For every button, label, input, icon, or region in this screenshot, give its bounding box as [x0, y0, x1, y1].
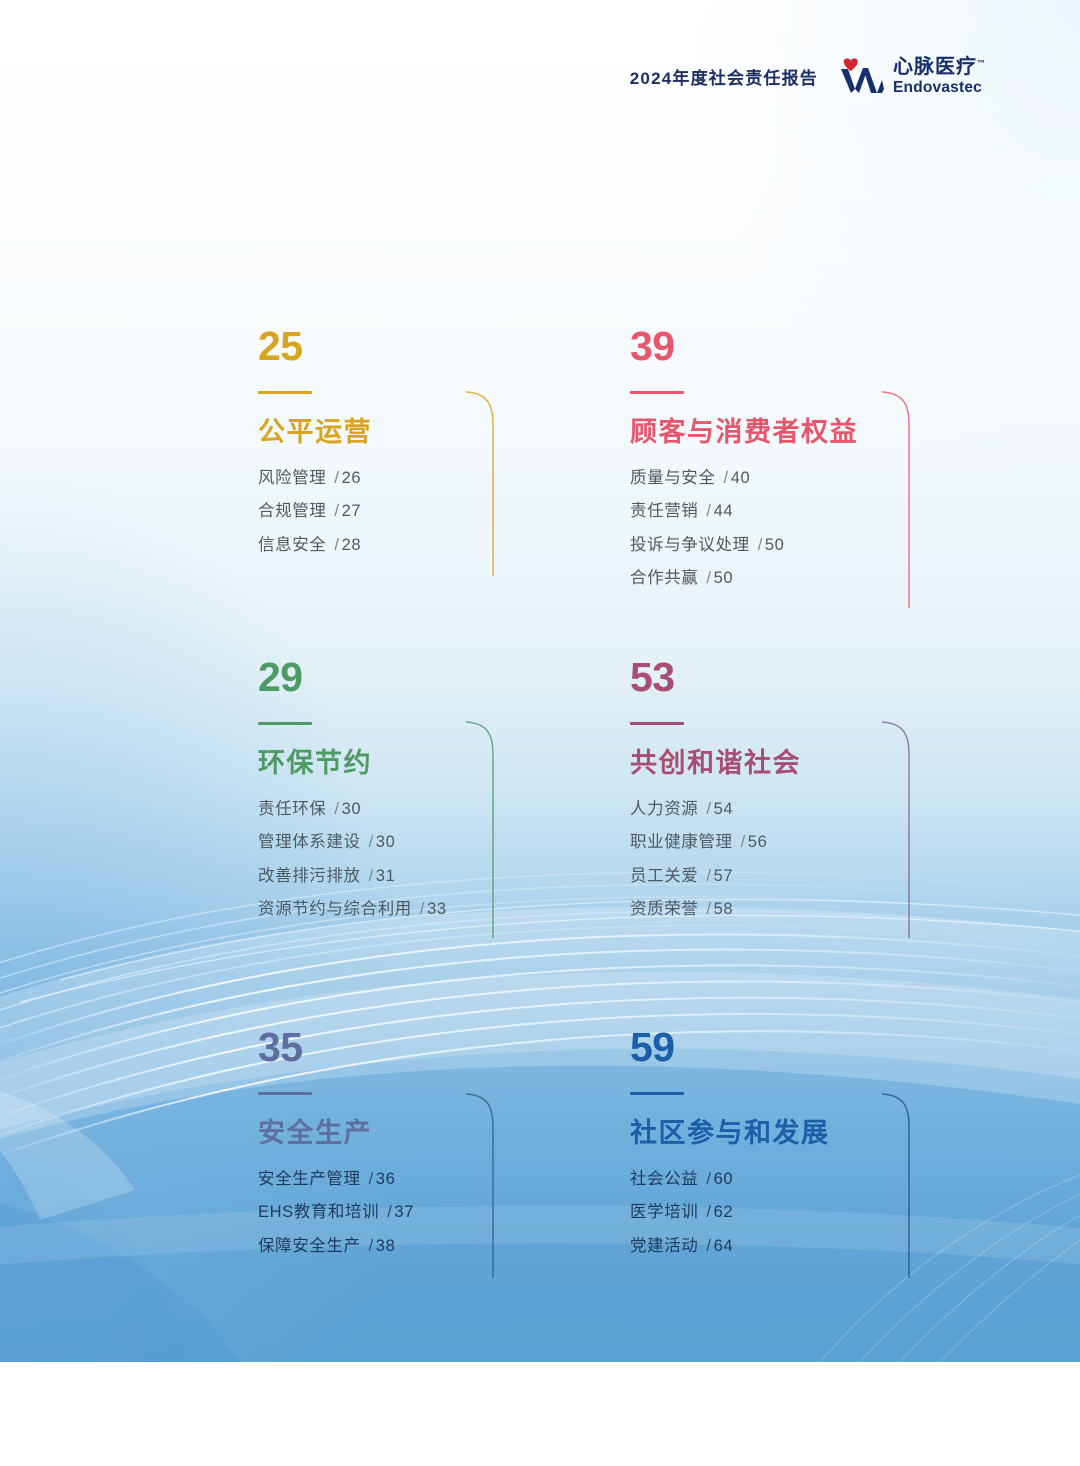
toc-rule: [258, 722, 312, 725]
toc-subitem-list: 责任环保/30 管理体系建设/30 改善排污排放/31 资源节约与综合利用/33: [258, 801, 558, 918]
page-separator: /: [369, 1237, 374, 1255]
page-separator: /: [741, 833, 746, 851]
toc-page-number: 35: [258, 1027, 558, 1068]
toc-rule: [630, 722, 684, 725]
list-item[interactable]: 改善排污排放/31: [258, 868, 558, 885]
toc-rule: [630, 1092, 684, 1095]
page-separator: /: [334, 469, 339, 487]
subitem-page: 36: [376, 1170, 396, 1188]
subitem-label: 信息安全: [258, 536, 326, 554]
subitem-page: 57: [714, 867, 734, 885]
page-separator: /: [369, 833, 374, 851]
toc-subitem-list: 风险管理/26 合规管理/27 信息安全/28: [258, 470, 558, 554]
subitem-page: 30: [342, 800, 362, 818]
list-item[interactable]: 风险管理/26: [258, 470, 558, 487]
toc-section-title: 环保节约: [258, 749, 558, 779]
page-separator: /: [387, 1203, 392, 1221]
page-separator: /: [706, 1237, 711, 1255]
subitem-page: 26: [342, 469, 362, 487]
toc-rule: [258, 391, 312, 394]
subitem-label: 安全生产管理: [258, 1170, 361, 1188]
subitem-page: 50: [765, 536, 785, 554]
subitem-page: 58: [714, 900, 734, 918]
subitem-label: 资质荣誉: [630, 900, 698, 918]
subitem-page: 38: [376, 1237, 396, 1255]
divider-rail-community: [878, 1090, 918, 1280]
toc-rule: [630, 391, 684, 394]
page-separator: /: [334, 536, 339, 554]
toc-entry-fair-operations[interactable]: 25 公平运营 风险管理/26 合规管理/27 信息安全/28: [258, 326, 558, 570]
page-separator: /: [706, 1170, 711, 1188]
page-separator: /: [758, 536, 763, 554]
page-separator: /: [334, 800, 339, 818]
subitem-page: 50: [714, 569, 734, 587]
subitem-page: 28: [342, 536, 362, 554]
page-separator: /: [369, 1170, 374, 1188]
subitem-label: 职业健康管理: [630, 833, 733, 851]
subitem-page: 60: [714, 1170, 734, 1188]
list-item[interactable]: 安全生产管理/36: [258, 1171, 558, 1188]
divider-rail-fair-operations: [462, 388, 502, 578]
page-separator: /: [706, 867, 711, 885]
toc-page-number: 59: [630, 1027, 950, 1068]
subitem-page: 31: [376, 867, 396, 885]
subitem-label: 人力资源: [630, 800, 698, 818]
subitem-label: 党建活动: [630, 1237, 698, 1255]
subitem-label: 管理体系建设: [258, 833, 361, 851]
toc-section-title: 公平运营: [258, 418, 558, 448]
page-separator: /: [706, 1203, 711, 1221]
page-separator: /: [724, 469, 729, 487]
subitem-page: 64: [714, 1237, 734, 1255]
divider-rail-customer-rights: [878, 388, 918, 610]
subitem-label: 医学培训: [630, 1203, 698, 1221]
list-item[interactable]: 保障安全生产/38: [258, 1238, 558, 1255]
toc-entry-production-safety[interactable]: 35 安全生产 安全生产管理/36 EHS教育和培训/37 保障安全生产/38: [258, 1027, 558, 1271]
subitem-label: 质量与安全: [630, 469, 716, 487]
toc-page-number: 25: [258, 326, 558, 367]
subitem-page: 44: [714, 502, 734, 520]
toc-section-title: 安全生产: [258, 1119, 558, 1149]
subitem-page: 33: [427, 900, 447, 918]
subitem-page: 40: [731, 469, 751, 487]
subitem-page: 27: [342, 502, 362, 520]
subitem-label: 风险管理: [258, 469, 326, 487]
subitem-label: 合作共赢: [630, 569, 698, 587]
subitem-page: 56: [748, 833, 768, 851]
divider-rail-production-safety: [462, 1090, 502, 1280]
subitem-label: 改善排污排放: [258, 867, 361, 885]
list-item[interactable]: 资源节约与综合利用/33: [258, 901, 558, 918]
subitem-label: 员工关爱: [630, 867, 698, 885]
subitem-label: 责任营销: [630, 502, 698, 520]
subitem-label: 责任环保: [258, 800, 326, 818]
page-separator: /: [706, 800, 711, 818]
toc-page-number: 53: [630, 657, 950, 698]
page-separator: /: [420, 900, 425, 918]
page-canvas: 2024年度社会责任报告 心脉医疗™ Endovastec 25: [0, 0, 1080, 1466]
page-separator: /: [706, 569, 711, 587]
toc-subitem-list: 安全生产管理/36 EHS教育和培训/37 保障安全生产/38: [258, 1171, 558, 1255]
page-separator: /: [334, 502, 339, 520]
subitem-label: 社会公益: [630, 1170, 698, 1188]
list-item[interactable]: 责任环保/30: [258, 801, 558, 818]
list-item[interactable]: 合规管理/27: [258, 503, 558, 520]
toc-page-number: 29: [258, 657, 558, 698]
toc-page-number: 39: [630, 326, 950, 367]
toc-rule: [258, 1092, 312, 1095]
page-separator: /: [706, 502, 711, 520]
list-item[interactable]: 信息安全/28: [258, 537, 558, 554]
page-separator: /: [706, 900, 711, 918]
subitem-label: 保障安全生产: [258, 1237, 361, 1255]
subitem-label: 合规管理: [258, 502, 326, 520]
subitem-page: 37: [394, 1203, 414, 1221]
toc-entry-environmental-conservation[interactable]: 29 环保节约 责任环保/30 管理体系建设/30 改善排污排放/31 资源节约…: [258, 657, 558, 935]
subitem-label: EHS教育和培训: [258, 1203, 379, 1221]
divider-rail-harmonious-society: [878, 718, 918, 940]
page-separator: /: [369, 867, 374, 885]
list-item[interactable]: 管理体系建设/30: [258, 834, 558, 851]
divider-rail-environmental: [462, 718, 502, 940]
subitem-label: 投诉与争议处理: [630, 536, 750, 554]
subitem-page: 30: [376, 833, 396, 851]
list-item[interactable]: EHS教育和培训/37: [258, 1204, 558, 1221]
subitem-label: 资源节约与综合利用: [258, 900, 412, 918]
subitem-page: 54: [714, 800, 734, 818]
table-of-contents: 25 公平运营 风险管理/26 合规管理/27 信息安全/28 29 环保节约 …: [0, 0, 1080, 1466]
subitem-page: 62: [714, 1203, 734, 1221]
